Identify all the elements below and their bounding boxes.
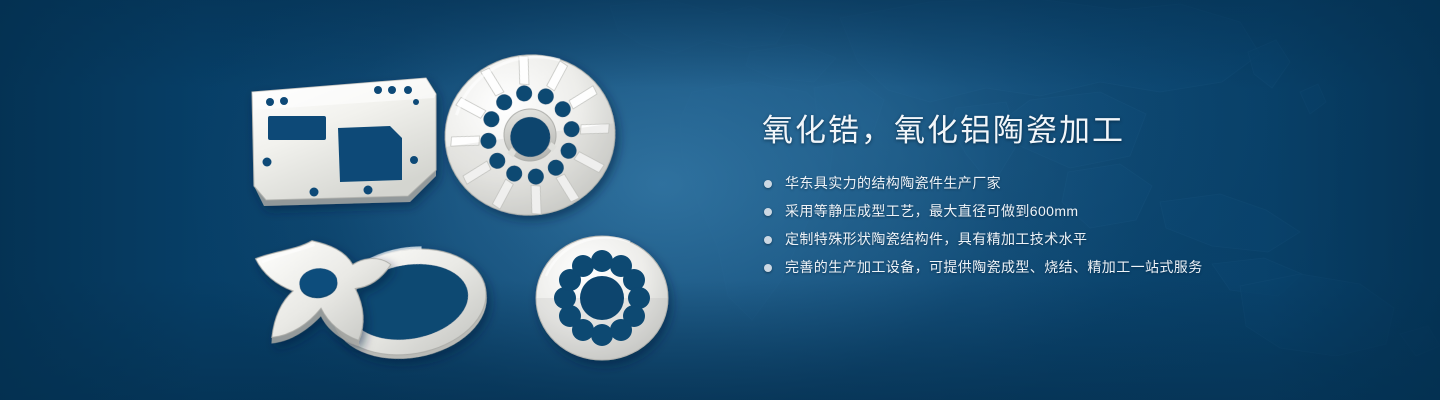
list-item: 定制特殊形状陶瓷结构件，具有精加工技术水平 — [762, 229, 1382, 250]
list-item-label: 采用等静压成型工艺，最大直径可做到600mm — [785, 203, 1078, 219]
ceramic-vaned-impeller-disc — [435, 44, 626, 226]
ceramic-perforated-annular-ring — [536, 236, 668, 360]
feature-list: 华东具实力的结构陶瓷件生产厂家 采用等静压成型工艺，最大直径可做到600mm 定… — [762, 173, 1382, 278]
ceramic-products-group — [230, 40, 710, 380]
list-item-label: 华东具实力的结构陶瓷件生产厂家 — [785, 175, 1001, 191]
banner-text-block: 氧化锆，氧化铝陶瓷加工 华东具实力的结构陶瓷件生产厂家 采用等静压成型工艺，最大… — [762, 110, 1382, 278]
bullet-dot-icon — [764, 180, 772, 188]
bullet-dot-icon — [764, 264, 772, 272]
list-item: 华东具实力的结构陶瓷件生产厂家 — [762, 173, 1382, 194]
ceramic-plate-with-cutouts — [252, 78, 436, 206]
bullet-dot-icon — [764, 236, 772, 244]
list-item: 完善的生产加工设备，可提供陶瓷成型、烧结、精加工一站式服务 — [762, 257, 1382, 278]
list-item: 采用等静压成型工艺，最大直径可做到600mm — [762, 201, 1382, 222]
page-title: 氧化锆，氧化铝陶瓷加工 — [762, 110, 1382, 152]
bullet-dot-icon — [764, 208, 772, 216]
list-item-label: 完善的生产加工设备，可提供陶瓷成型、烧结、精加工一站式服务 — [785, 259, 1203, 275]
promo-banner: 氧化锆，氧化铝陶瓷加工 华东具实力的结构陶瓷件生产厂家 采用等静压成型工艺，最大… — [0, 0, 1440, 400]
list-item-label: 定制特殊形状陶瓷结构件，具有精加工技术水平 — [785, 231, 1087, 247]
